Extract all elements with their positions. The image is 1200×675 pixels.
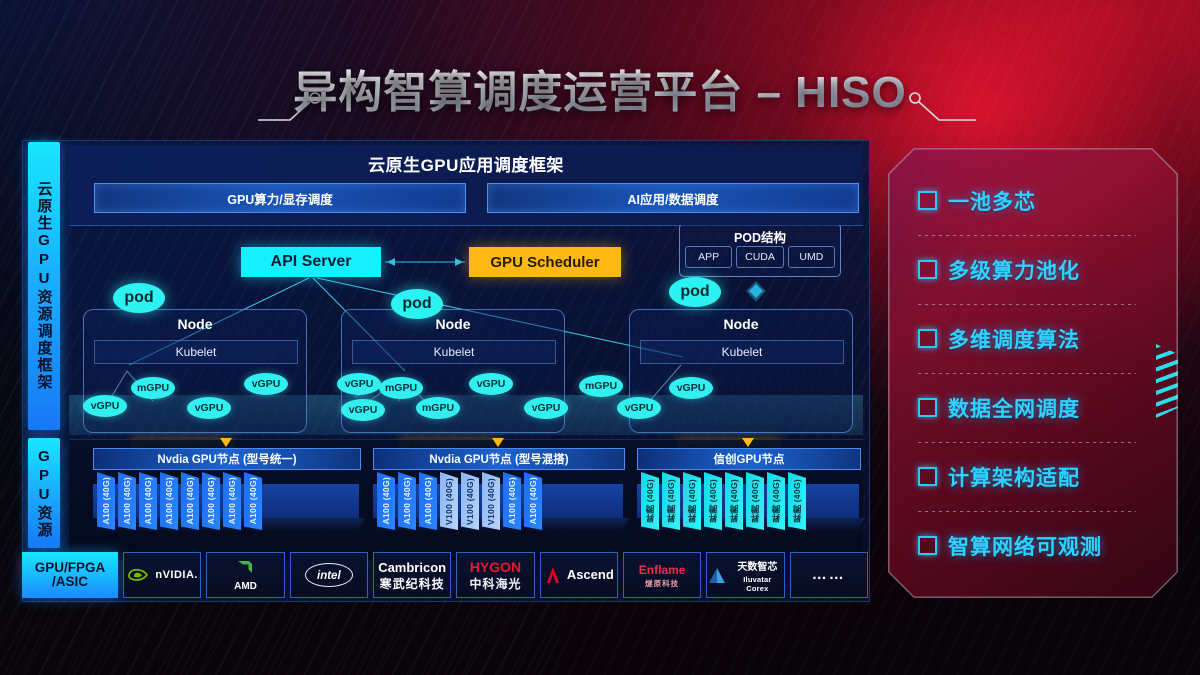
gpu-card[interactable]: A100 (40G) bbox=[160, 472, 178, 530]
gpu-card[interactable]: A100 (40G) bbox=[244, 472, 262, 530]
feature-label: 智算网络可观测 bbox=[948, 531, 1102, 561]
gpu-card-label: 昇腾 (40G) bbox=[644, 479, 656, 523]
vendor-label: nVIDIA. bbox=[155, 569, 198, 582]
gpu-card-label: A100 (40G) bbox=[185, 477, 195, 524]
gpu-card[interactable]: 昇腾 (40G) bbox=[788, 472, 806, 530]
gpu-card-label: A100 (40G) bbox=[206, 477, 216, 524]
header: 异构智算调度运营平台 – HISO bbox=[0, 58, 1200, 128]
vendor-label: intel bbox=[317, 570, 341, 582]
checkbox-square-icon bbox=[918, 260, 937, 279]
features-panel: 一池多芯多级算力池化多维调度算法数据全网调度计算架构适配智算网络可观测 bbox=[888, 148, 1178, 598]
gpu-card-label: 昇腾 (40G) bbox=[791, 479, 803, 523]
gpu-card[interactable]: 昇腾 (40G) bbox=[683, 472, 701, 530]
feature-item-compute-arch-adaptation[interactable]: 计算架构适配 bbox=[918, 442, 1178, 511]
pod-cell-umd: UMD bbox=[788, 246, 835, 268]
mgpu-ellipse[interactable]: mGPU bbox=[579, 375, 623, 397]
gpu-card[interactable]: A100 (40G) bbox=[419, 472, 437, 530]
gpu-card[interactable]: V100 (40G) bbox=[440, 472, 458, 530]
vgpu-ellipse[interactable]: vGPU bbox=[524, 397, 568, 419]
gpu-scheduler-node[interactable]: GPU Scheduler bbox=[469, 247, 621, 277]
vendor-hygon[interactable]: HYGON 中科海光 bbox=[456, 552, 534, 598]
gpu-card-label: A100 (40G) bbox=[227, 477, 237, 524]
group-arrow-icon bbox=[742, 438, 754, 447]
gpu-card-label: V100 (40G) bbox=[444, 478, 454, 525]
gpu-card[interactable]: V100 (40G) bbox=[461, 472, 479, 530]
ascend-a-icon bbox=[544, 566, 562, 584]
mgpu-ellipse[interactable]: mGPU bbox=[379, 377, 423, 399]
gpu-card[interactable]: V100 (40G) bbox=[482, 472, 500, 530]
vendor-cambricon[interactable]: Cambricon 寒武纪科技 bbox=[373, 552, 451, 598]
gpu-card-label: 昇腾 (40G) bbox=[728, 479, 740, 523]
feature-item-network-observability[interactable]: 智算网络可观测 bbox=[918, 511, 1178, 580]
pod-3[interactable]: pod bbox=[669, 277, 721, 307]
vendor-iluvatar[interactable]: 天数智芯 Iluvatar Corex bbox=[706, 552, 784, 598]
vendor-sublabel: 中科海光 bbox=[469, 578, 521, 592]
feature-label: 多级算力池化 bbox=[948, 255, 1080, 285]
gpu-card-stack-3: 昇腾 (40G)昇腾 (40G)昇腾 (40G)昇腾 (40G)昇腾 (40G)… bbox=[641, 472, 806, 530]
framework-title: 云原生GPU应用调度框架 bbox=[69, 151, 863, 176]
gpu-card-label: A100 (40G) bbox=[164, 477, 174, 524]
gpu-card[interactable]: A100 (40G) bbox=[503, 472, 521, 530]
gpu-card-label: A100 (40G) bbox=[528, 477, 538, 524]
gpu-card-label: A100 (40G) bbox=[122, 477, 132, 524]
api-server-node[interactable]: API Server bbox=[241, 247, 381, 277]
gpu-card[interactable]: 昇腾 (40G) bbox=[767, 472, 785, 530]
pill-ai-data-scheduling[interactable]: AI应用/数据调度 bbox=[487, 183, 859, 213]
gpu-card[interactable]: A100 (40G) bbox=[139, 472, 157, 530]
gpu-card[interactable]: 昇腾 (40G) bbox=[725, 472, 743, 530]
gpu-card[interactable]: A100 (40G) bbox=[202, 472, 220, 530]
panel-accent-stripes bbox=[1156, 344, 1182, 418]
vendor-label: AMD bbox=[234, 581, 257, 593]
vendor-label: Ascend bbox=[567, 568, 614, 583]
checkbox-square-icon bbox=[918, 329, 937, 348]
vendor-amd[interactable]: AMD bbox=[206, 552, 284, 598]
pod-cell-cuda: CUDA bbox=[736, 246, 783, 268]
title-right-decoration bbox=[906, 90, 976, 112]
iluvatar-mountain-icon bbox=[707, 567, 727, 584]
vgpu-ellipse[interactable]: vGPU bbox=[83, 395, 127, 417]
gpu-card[interactable]: A100 (40G) bbox=[97, 472, 115, 530]
sidebar-tab-cloud-native-framework[interactable]: 云原生GPU资源调度框架 bbox=[28, 142, 60, 430]
feature-item-one-pool-multi-chip[interactable]: 一池多芯 bbox=[918, 166, 1178, 235]
pod-structure-arrow-icon bbox=[745, 281, 767, 305]
vendor-intel[interactable]: intel bbox=[290, 552, 368, 598]
vendor-sublabel: Iluvatar Corex bbox=[731, 576, 783, 593]
vendor-label: …… bbox=[812, 566, 846, 583]
feature-item-multi-level-pooling[interactable]: 多级算力池化 bbox=[918, 235, 1178, 304]
checkbox-square-icon bbox=[918, 467, 937, 486]
gpu-card-label: 昇腾 (40G) bbox=[707, 479, 719, 523]
slide-canvas: 异构智算调度运营平台 – HISO 云原生GPU应用调度框架 GPU算力/显存调… bbox=[0, 0, 1200, 675]
gpu-card[interactable]: 昇腾 (40G) bbox=[641, 472, 659, 530]
feature-item-data-network-scheduling[interactable]: 数据全网调度 bbox=[918, 373, 1178, 442]
amd-arrow-icon bbox=[235, 558, 255, 576]
gpu-card[interactable]: A100 (40G) bbox=[223, 472, 241, 530]
node-box-3[interactable]: Node Kubelet bbox=[629, 309, 853, 433]
sidebar-tab-gpu-resources[interactable]: GPU资源 bbox=[28, 438, 60, 548]
gpu-resource-section: Nvdia GPU节点 (型号统一) Nvdia GPU节点 (型号混搭) 信创… bbox=[69, 439, 863, 560]
sidebar-tab-label: GPU/FPGA/ASIC bbox=[35, 561, 106, 589]
pod-2[interactable]: pod bbox=[391, 289, 443, 319]
vendor-enflame[interactable]: Enflame 燧原科技 bbox=[623, 552, 701, 598]
gpu-group-header-nvidia-mixed[interactable]: Nvdia GPU节点 (型号混搭) bbox=[373, 448, 625, 470]
pill-compute-memory-scheduling[interactable]: GPU算力/显存调度 bbox=[94, 183, 466, 213]
group-arrow-icon bbox=[220, 438, 232, 447]
gpu-card[interactable]: A100 (40G) bbox=[377, 472, 395, 530]
vendor-label: HYGON bbox=[470, 559, 521, 575]
vgpu-ellipse[interactable]: vGPU bbox=[469, 373, 513, 395]
node-title: Node bbox=[630, 316, 852, 332]
vgpu-ellipse[interactable]: vGPU bbox=[187, 397, 231, 419]
sidebar-tab-label: GPU资源 bbox=[34, 448, 55, 539]
feature-list: 一池多芯多级算力池化多维调度算法数据全网调度计算架构适配智算网络可观测 bbox=[888, 148, 1178, 598]
checkbox-square-icon bbox=[918, 398, 937, 417]
checkbox-square-icon bbox=[918, 191, 937, 210]
vendor-label: Cambricon bbox=[378, 560, 446, 575]
vendor-label: 天数智芯 bbox=[737, 562, 777, 573]
nvidia-eye-icon bbox=[126, 567, 150, 584]
vendor-sublabel: 寒武纪科技 bbox=[378, 578, 446, 592]
gpu-card-label: V100 (40G) bbox=[465, 478, 475, 525]
gpu-card-label: 昇腾 (40G) bbox=[749, 479, 761, 523]
pod-structure-title: POD结构 bbox=[680, 227, 840, 246]
gpu-card-label: A100 (40G) bbox=[248, 477, 258, 524]
feature-item-multi-dim-scheduling[interactable]: 多维调度算法 bbox=[918, 304, 1178, 373]
gpu-card-label: A100 (40G) bbox=[507, 477, 517, 524]
feature-label: 数据全网调度 bbox=[948, 393, 1080, 423]
kubelet-bar: Kubelet bbox=[352, 340, 556, 364]
feature-label: 一池多芯 bbox=[948, 186, 1036, 216]
gpu-card-stack-2: A100 (40G)A100 (40G)A100 (40G)V100 (40G)… bbox=[377, 472, 542, 530]
sidebar-tab-label: 云原生GPU资源调度框架 bbox=[34, 181, 55, 391]
gpu-card[interactable]: 昇腾 (40G) bbox=[662, 472, 680, 530]
gpu-card-label: A100 (40G) bbox=[143, 477, 153, 524]
architecture-panel: 云原生GPU应用调度框架 GPU算力/显存调度 AI应用/数据调度 bbox=[22, 140, 870, 602]
kubelet-bar: Kubelet bbox=[640, 340, 844, 364]
sidebar-tab-gpu-fpga-asic[interactable]: GPU/FPGA/ASIC bbox=[22, 552, 118, 598]
gpu-card[interactable]: A100 (40G) bbox=[398, 472, 416, 530]
page-title: 异构智算调度运营平台 – HISO bbox=[0, 58, 1200, 128]
pod-1[interactable]: pod bbox=[113, 283, 165, 313]
vgpu-ellipse[interactable]: vGPU bbox=[669, 377, 713, 399]
vendor-more[interactable]: …… bbox=[790, 552, 868, 598]
pod-cell-app: APP bbox=[685, 246, 732, 268]
gpu-card-label: A100 (40G) bbox=[381, 477, 391, 524]
vendor-nvidia[interactable]: nVIDIA. bbox=[123, 552, 201, 598]
vgpu-ellipse[interactable]: vGPU bbox=[337, 373, 381, 395]
group-arrow-icon bbox=[492, 438, 504, 447]
node-title: Node bbox=[84, 316, 306, 332]
vgpu-ellipse[interactable]: vGPU bbox=[341, 399, 385, 421]
gpu-card-label: A100 (40G) bbox=[101, 477, 111, 524]
gpu-card-label: V100 (40G) bbox=[486, 478, 496, 525]
pod-structure-card: POD结构 APP CUDA UMD bbox=[679, 225, 841, 277]
gpu-card-label: 昇腾 (40G) bbox=[665, 479, 677, 523]
gpu-card-label: 昇腾 (40G) bbox=[686, 479, 698, 523]
vgpu-ellipse[interactable]: vGPU bbox=[244, 373, 288, 395]
kubelet-bar: Kubelet bbox=[94, 340, 298, 364]
gpu-card[interactable]: 昇腾 (40G) bbox=[704, 472, 722, 530]
gpu-card[interactable]: A100 (40G) bbox=[118, 472, 136, 530]
pod-structure-cells: APP CUDA UMD bbox=[685, 246, 835, 268]
gpu-card[interactable]: 昇腾 (40G) bbox=[746, 472, 764, 530]
mgpu-ellipse[interactable]: mGPU bbox=[131, 377, 175, 399]
vendor-label: Enflame bbox=[639, 563, 686, 577]
vgpu-ellipse[interactable]: vGPU bbox=[617, 397, 661, 419]
feature-label: 计算架构适配 bbox=[948, 462, 1080, 492]
gpu-card-stack-1: A100 (40G)A100 (40G)A100 (40G)A100 (40G)… bbox=[97, 472, 262, 530]
gpu-card-label: A100 (40G) bbox=[402, 477, 412, 524]
gpu-card[interactable]: A100 (40G) bbox=[181, 472, 199, 530]
vendor-logo-bar: GPU/FPGA/ASIC nVIDIA. AMD intel bbox=[22, 552, 868, 598]
gpu-card-label: A100 (40G) bbox=[423, 477, 433, 524]
gpu-group-header-xinchuang[interactable]: 信创GPU节点 bbox=[637, 448, 861, 470]
node-title: Node bbox=[342, 316, 564, 332]
cloud-native-framework-section: 云原生GPU应用调度框架 GPU算力/显存调度 AI应用/数据调度 bbox=[69, 145, 863, 226]
vendor-ascend[interactable]: Ascend bbox=[540, 552, 618, 598]
mgpu-ellipse[interactable]: mGPU bbox=[416, 397, 460, 419]
feature-label: 多维调度算法 bbox=[948, 324, 1080, 354]
vendor-sublabel: 燧原科技 bbox=[639, 580, 686, 589]
checkbox-square-icon bbox=[918, 536, 937, 555]
gpu-card[interactable]: A100 (40G) bbox=[524, 472, 542, 530]
gpu-group-header-nvidia-uniform[interactable]: Nvdia GPU节点 (型号统一) bbox=[93, 448, 361, 470]
gpu-card-label: 昇腾 (40G) bbox=[770, 479, 782, 523]
